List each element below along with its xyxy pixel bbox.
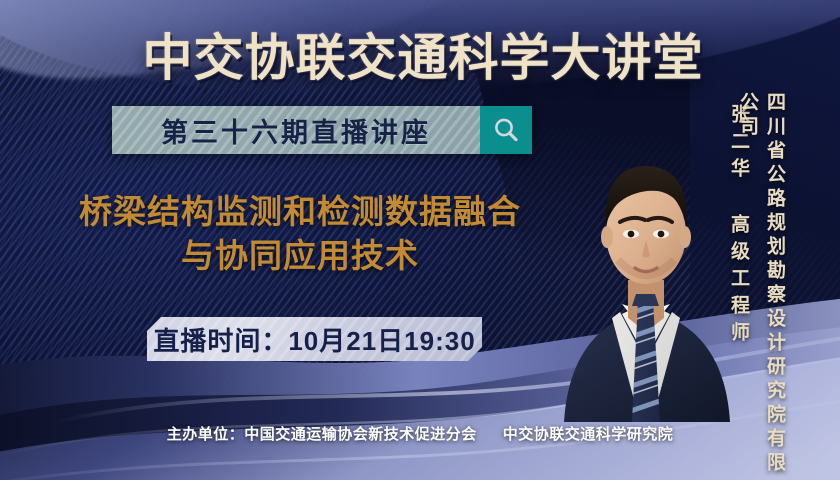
subtitle-banner: 第三十六期直播讲座 bbox=[112, 106, 532, 154]
footer-organizer: 中国交通运输协会新技术促进分会 bbox=[244, 426, 477, 443]
topic-line-1: 桥梁结构监测和检测数据融合 bbox=[79, 193, 521, 230]
subtitle-banner-body: 第三十六期直播讲座 bbox=[112, 106, 480, 154]
footer-organizer-label: 主办单位： bbox=[167, 426, 245, 443]
page-title: 中交协联交通科学大讲堂 bbox=[0, 18, 840, 90]
footer-co-organizer: 中交协联交通科学研究院 bbox=[503, 426, 674, 443]
footer-organizers: 主办单位：中国交通运输协会新技术促进分会中交协联交通科学研究院 bbox=[0, 423, 840, 444]
webinar-poster: 中交协联交通科学大讲堂 第三十六期直播讲座 桥梁结构监测和检测数据融合 与协同应… bbox=[0, 0, 840, 480]
speaker-organization: 四川省公路规划勘察设计研究院有限公司 bbox=[734, 92, 788, 480]
search-icon bbox=[480, 106, 532, 154]
subtitle-label: 第三十六期直播讲座 bbox=[161, 111, 431, 150]
broadcast-time-text: 直播时间：10月21日19:30 bbox=[153, 321, 475, 358]
broadcast-time-badge: 直播时间：10月21日19:30 bbox=[147, 317, 482, 361]
topic-title: 桥梁结构监测和检测数据融合 与协同应用技术 bbox=[30, 190, 570, 277]
topic-line-2: 与协同应用技术 bbox=[30, 234, 570, 278]
speaker-portrait bbox=[556, 122, 734, 422]
